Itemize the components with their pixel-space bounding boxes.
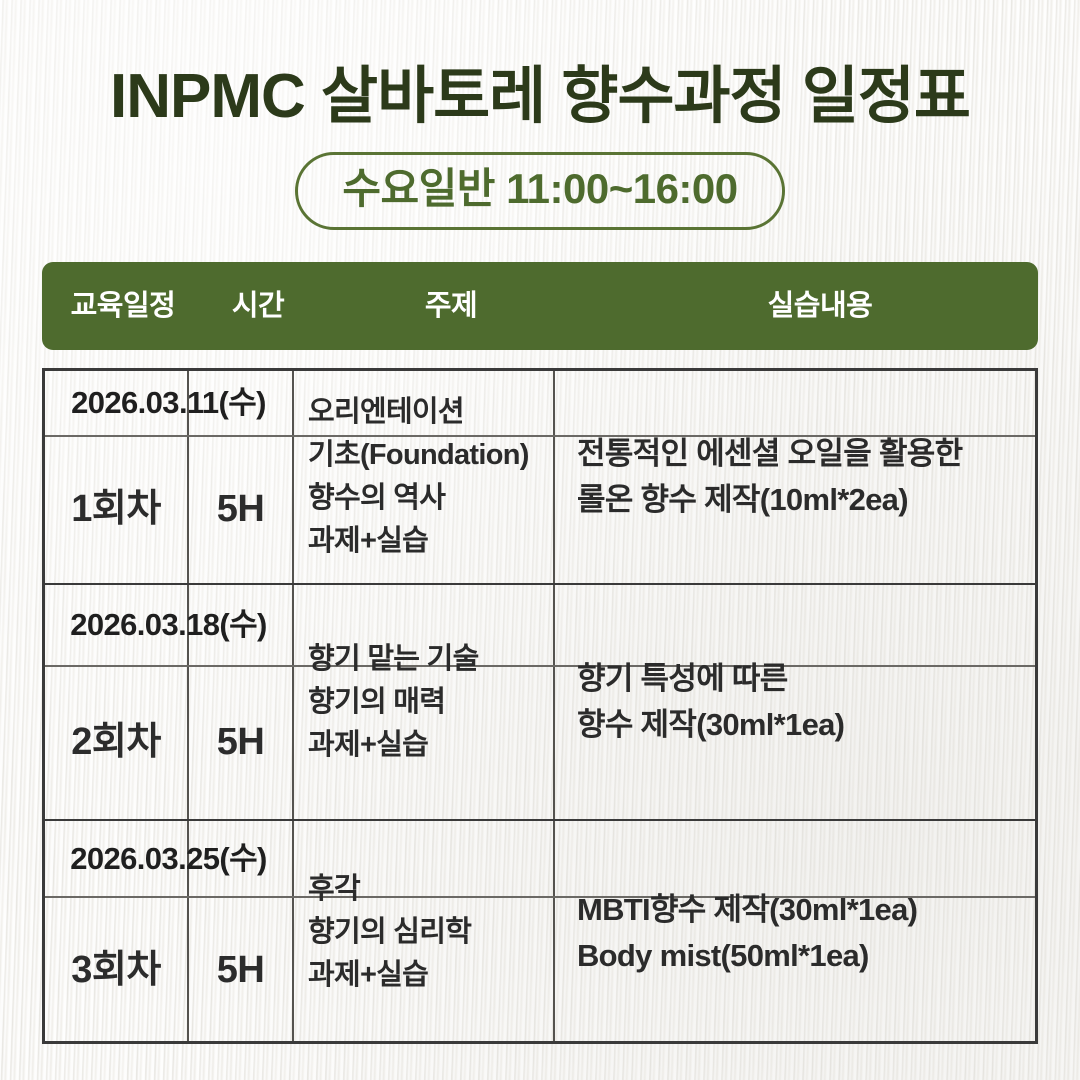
table-row: 2026.03.25(수)	[45, 821, 292, 896]
column-header-practice: 실습내용	[602, 262, 1038, 350]
table-row: 5H	[189, 665, 292, 819]
column-header-topic: 주제	[342, 262, 560, 350]
subtitle-container: 수요일반 11:00~16:00	[0, 152, 1080, 230]
table-row: 3회차	[45, 896, 187, 1044]
table-row: 후각 향기의 심리학 과제+실습	[294, 821, 553, 1044]
column-header-schedule: 교육일정	[49, 262, 197, 350]
table-row: 5H	[189, 896, 292, 1044]
table-row: 2회차	[45, 665, 187, 819]
table-row: 2026.03.18(수)	[45, 585, 292, 665]
table-row: 오리엔테이션 기초(Foundation) 향수의 역사 과제+실습	[294, 371, 553, 583]
table-row: 5H	[189, 435, 292, 583]
table-row: 전통적인 에센셜 오일을 활용한 롤온 향수 제작(10ml*2ea)	[555, 371, 1035, 583]
page-title: INPMC 살바토레 향수과정 일정표	[0, 58, 1080, 136]
table-header-bar: 교육일정 시간 주제 실습내용	[42, 262, 1038, 350]
table-row: 향기 특성에 따른 향수 제작(30ml*1ea)	[555, 585, 1035, 819]
column-header-duration: 시간	[202, 262, 314, 350]
table-row: 1회차	[45, 435, 187, 583]
schedule-poster: INPMC 살바토레 향수과정 일정표 수요일반 11:00~16:00 교육일…	[0, 0, 1080, 1080]
schedule-table: 2026.03.11(수) 1회차 5H 오리엔테이션 기초(Foundatio…	[42, 368, 1038, 1044]
schedule-time-badge: 수요일반 11:00~16:00	[295, 152, 784, 230]
table-row: MBTI향수 제작(30ml*1ea) Body mist(50ml*1ea)	[555, 821, 1035, 1044]
table-row: 2026.03.11(수)	[45, 371, 292, 435]
table-row: 향기 맡는 기술 향기의 매력 과제+실습	[294, 585, 553, 819]
